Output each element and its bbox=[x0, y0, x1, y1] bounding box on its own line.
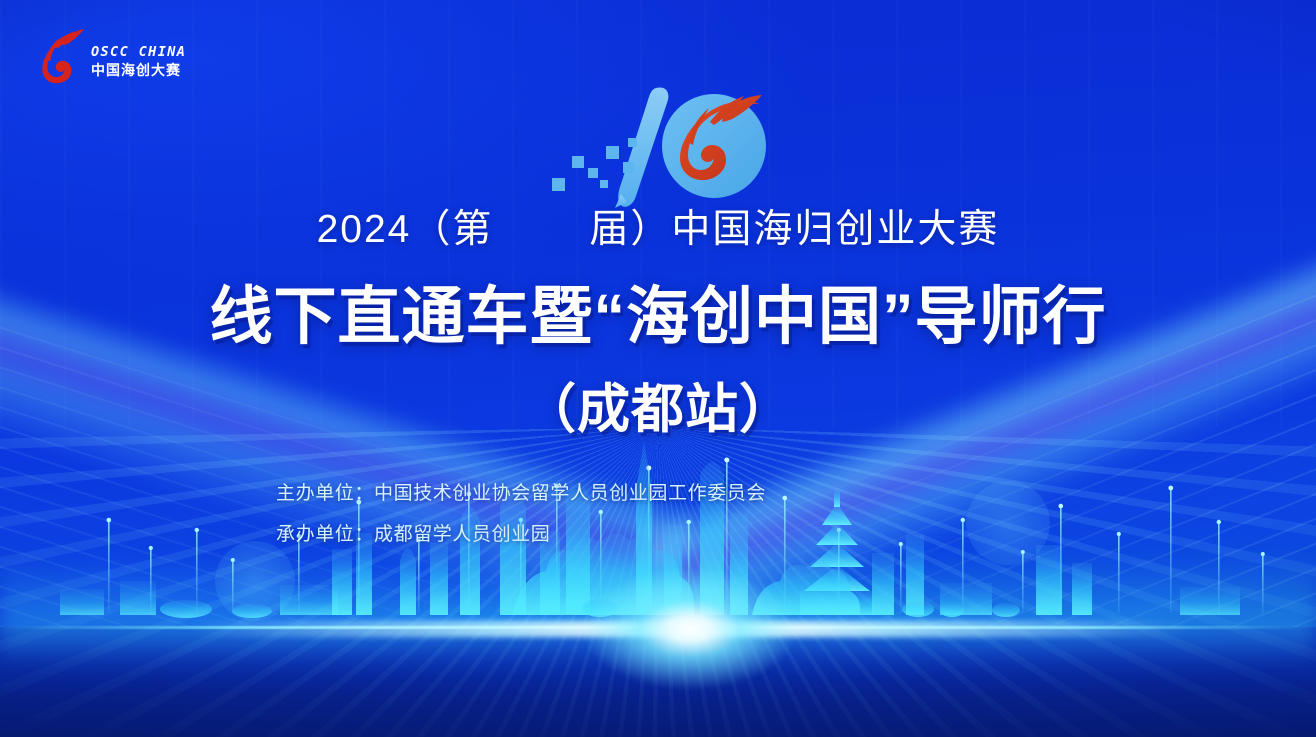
event-year-prefix: 2024（第 bbox=[317, 208, 494, 251]
horizon-light-burst bbox=[540, 544, 840, 714]
organizer-block: 主办单位：中国技术创业协会留学人员创业园工作委员会 承办单位：成都留学人员创业园 bbox=[276, 478, 766, 546]
main-title: 线下直通车暨“海创中国”导师行 bbox=[0, 266, 1316, 357]
brand-logo[interactable]: OSCC CHINA 中国海创大赛 bbox=[30, 28, 186, 86]
sub-title: （成都站） bbox=[0, 367, 1316, 443]
co-organizer-line: 承办单位：成都留学人员创业园 bbox=[276, 519, 766, 546]
host-organizer-line: 主办单位：中国技术创业协会留学人员创业园工作委员会 bbox=[276, 478, 766, 505]
anniversary-number-graphic bbox=[528, 84, 788, 212]
logo-english-text: OSCC CHINA bbox=[91, 46, 186, 60]
event-year-suffix: 届）中国海归创业大赛 bbox=[589, 208, 999, 251]
logo-wordmark: OSCC CHINA 中国海创大赛 bbox=[91, 37, 186, 77]
flame-phoenix-mark bbox=[30, 28, 86, 86]
event-year-line: 2024（第届）中国海归创业大赛 bbox=[0, 198, 1316, 254]
title-block: 2024（第届）中国海归创业大赛 线下直通车暨“海创中国”导师行 （成都站） bbox=[0, 84, 1316, 443]
poster-canvas: OSCC CHINA 中国海创大赛 bbox=[0, 0, 1316, 737]
logo-chinese-text: 中国海创大赛 bbox=[91, 63, 186, 77]
